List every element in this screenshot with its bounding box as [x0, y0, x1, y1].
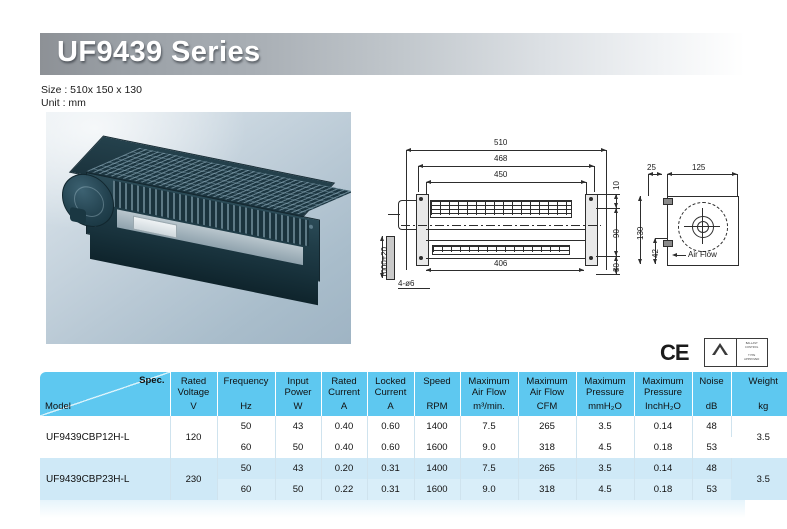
datasheet-page: UF9439 Series Size : 510x 150 x 130 Unit… — [0, 0, 787, 529]
spec-table: Spec. Model Rated Voltage V Frequency Hz… — [40, 372, 787, 500]
ext-line — [737, 174, 738, 196]
header-line-1: Maximum — [526, 376, 567, 387]
cell-rated-current: 0.40 — [321, 416, 367, 437]
cell-noise: 48 — [692, 416, 731, 437]
header-line-1: Weight — [749, 376, 778, 387]
header-line-1: Speed — [423, 376, 450, 387]
ext-line — [596, 194, 620, 195]
cell-power: 43 — [275, 458, 321, 479]
header-unit: A — [322, 401, 367, 413]
header-line-1: Locked — [375, 376, 406, 387]
cell-inchh2o: 0.18 — [634, 479, 692, 500]
airflow-label: Air Flow — [688, 250, 717, 259]
triangle-icon — [712, 343, 728, 355]
cell-frequency: 50 — [217, 458, 275, 479]
dim-arrow — [638, 196, 642, 201]
header-line-1: Frequency — [224, 376, 269, 387]
header-unit: dB — [693, 401, 731, 413]
header-input-power: Input Power W — [275, 372, 321, 416]
ext-line — [596, 274, 620, 275]
ce-mark-icon: CE — [660, 340, 689, 366]
header-unit: InchH₂O — [635, 401, 692, 413]
cell-power: 50 — [275, 479, 321, 500]
cell-weight: 3.5 — [731, 416, 787, 458]
cell-cfm: 265 — [518, 458, 576, 479]
ext-line — [606, 150, 607, 270]
table-row: UF9439CBP12H-L 120 50 43 0.40 0.60 1400 … — [40, 416, 787, 437]
header-max-pressure-mmh2o: Maximum Pressure mmH₂O — [576, 372, 634, 416]
cell-speed: 1600 — [414, 437, 460, 458]
header-unit: Hz — [218, 401, 275, 413]
header-max-air-flow-cfm: Maximum Air Flow CFM — [518, 372, 576, 416]
header-unit: V — [171, 401, 217, 413]
cell-model: UF9439CBP23H-L — [40, 458, 170, 500]
ext-line — [594, 166, 595, 192]
dim-label-mount-width: 468 — [494, 154, 507, 163]
lower-blade-pitch — [433, 246, 567, 252]
badge-line-4: APPROVED — [737, 358, 768, 361]
header-unit: A — [368, 401, 414, 413]
cell-power: 50 — [275, 437, 321, 458]
dim-line-125 — [667, 174, 737, 175]
cell-rated-current: 0.40 — [321, 437, 367, 458]
header-unit: m³/min. — [461, 401, 518, 413]
header-max-pressure-inchh2o: Maximum Pressure InchH₂O — [634, 372, 692, 416]
dim-label-overall-width: 510 — [494, 138, 507, 147]
cell-noise: 48 — [692, 458, 731, 479]
header-line-2: Current — [328, 387, 360, 398]
cell-speed: 1600 — [414, 479, 460, 500]
dim-label-mid-height: 90 — [612, 229, 621, 238]
dim-arrow — [638, 259, 642, 264]
table-body: UF9439CBP12H-L 120 50 43 0.40 0.60 1400 … — [40, 416, 787, 500]
cell-inchh2o: 0.14 — [634, 416, 692, 437]
header-line-2: Air Flow — [530, 387, 564, 398]
cell-noise: 53 — [692, 479, 731, 500]
table-bottom-fade — [40, 500, 745, 518]
motor-outline — [398, 200, 417, 230]
header-line-1: Input — [287, 376, 308, 387]
header-unit: kg — [732, 401, 787, 413]
cell-locked-current: 0.60 — [367, 437, 414, 458]
dim-label-body-width: 450 — [494, 170, 507, 179]
dim-label-mount-offset: 42 — [651, 249, 660, 258]
ext-line — [667, 174, 668, 196]
dim-line-510 — [406, 150, 606, 151]
cell-cfm: 318 — [518, 479, 576, 500]
cell-mmh2o: 4.5 — [576, 437, 634, 458]
table-row: UF9439CBP23H-L 230 50 43 0.20 0.31 1400 … — [40, 458, 787, 479]
header-unit: mmH₂O — [577, 401, 634, 413]
hub-crosshair-v — [702, 208, 703, 244]
struct-line — [426, 240, 586, 241]
dim-label-side-offset: 25 — [647, 163, 656, 172]
header-line-1: Maximum — [642, 376, 683, 387]
header-line-2: Current — [375, 387, 407, 398]
header-corner-cell: Spec. Model — [40, 372, 170, 416]
blower-motor-cap — [70, 207, 86, 224]
note-underline — [398, 288, 430, 289]
header-model-label: Model — [45, 401, 71, 413]
cell-cmm: 9.0 — [460, 437, 518, 458]
header-unit: CFM — [519, 401, 576, 413]
specification-table: Spec. Model Rated Voltage V Frequency Hz… — [40, 372, 745, 518]
cell-locked-current: 0.60 — [367, 416, 414, 437]
cell-cmm: 9.0 — [460, 479, 518, 500]
header-line-2: Voltage — [178, 387, 210, 398]
dim-label-inner-width: 406 — [494, 259, 507, 268]
cell-cfm: 265 — [518, 416, 576, 437]
header-line-1: Maximum — [468, 376, 509, 387]
dim-label-top-height: 10 — [612, 181, 621, 190]
left-bracket — [416, 194, 429, 266]
cell-locked-current: 0.31 — [367, 458, 414, 479]
dim-arrow — [653, 259, 657, 264]
header-weight: Weight kg — [731, 372, 787, 416]
header-max-air-flow-cmm: Maximum Air Flow m³/min. — [460, 372, 518, 416]
header-line-2: Power — [285, 387, 312, 398]
dim-label-bottom-height: 30 — [612, 263, 621, 272]
dim-arrow — [426, 268, 431, 272]
dim-arrow — [380, 236, 384, 241]
center-line — [401, 225, 601, 226]
header-line-2: Pressure — [644, 387, 682, 398]
cell-power: 43 — [275, 416, 321, 437]
header-rated-voltage: Rated Voltage V — [170, 372, 217, 416]
dim-label-lead-length: 1000±20 — [380, 247, 389, 278]
dim-label-hole-note: 4-ø6 — [398, 279, 414, 288]
product-photo — [46, 112, 351, 344]
screw-icon — [309, 224, 313, 229]
header-line-2: Pressure — [586, 387, 624, 398]
page-title: UF9439 Series — [57, 36, 261, 69]
cell-model: UF9439CBP12H-L — [40, 416, 170, 458]
cell-mmh2o: 3.5 — [576, 416, 634, 437]
dim-line-406 — [426, 270, 584, 271]
side-mount-tab — [663, 240, 673, 247]
upper-blade-pitch — [431, 201, 569, 215]
technical-drawing: 510 468 450 — [376, 128, 786, 313]
header-line-1: Maximum — [584, 376, 625, 387]
cell-cmm: 7.5 — [460, 416, 518, 437]
mounting-hole-icon — [419, 256, 423, 260]
struct-line — [426, 229, 586, 230]
shaft-line — [388, 214, 400, 215]
title-banner: UF9439 Series — [40, 33, 745, 75]
cell-frequency: 60 — [217, 479, 275, 500]
header-line-1: Noise — [699, 376, 723, 387]
cell-frequency: 50 — [217, 416, 275, 437]
cell-speed: 1400 — [414, 458, 460, 479]
size-line: Size : 510x 150 x 130 — [41, 84, 142, 97]
badge-text-panel: BALLAST CONTROL TYPE APPROVED — [737, 339, 768, 366]
badge-line-3: TYPE — [737, 354, 768, 357]
dim-arrow — [614, 208, 618, 213]
dim-line-450 — [426, 182, 586, 183]
size-info: Size : 510x 150 x 130 Unit : mm — [41, 84, 142, 109]
cell-weight: 3.5 — [731, 458, 787, 500]
table-header: Spec. Model Rated Voltage V Frequency Hz… — [40, 372, 787, 416]
badge-triangle-panel — [705, 339, 737, 366]
header-unit: W — [276, 401, 321, 413]
header-line-2: Air Flow — [472, 387, 506, 398]
approval-badge-icon: BALLAST CONTROL TYPE APPROVED — [704, 338, 768, 367]
ext-line — [655, 238, 667, 239]
mounting-hole-icon — [589, 197, 593, 201]
cell-mmh2o: 4.5 — [576, 479, 634, 500]
mounting-hole-icon — [419, 197, 423, 201]
cell-cmm: 7.5 — [460, 458, 518, 479]
airflow-arrow-shaft — [676, 255, 686, 256]
dim-label-side-depth: 125 — [692, 163, 705, 172]
side-mount-tab — [663, 198, 673, 205]
cell-inchh2o: 0.18 — [634, 437, 692, 458]
cell-noise: 53 — [692, 437, 731, 458]
dim-label-side-height: 130 — [636, 227, 645, 240]
cell-inchh2o: 0.14 — [634, 458, 692, 479]
cell-cfm: 318 — [518, 437, 576, 458]
cell-voltage: 120 — [170, 416, 217, 458]
header-frequency: Frequency Hz — [217, 372, 275, 416]
cell-rated-current: 0.22 — [321, 479, 367, 500]
mounting-hole-icon — [589, 256, 593, 260]
cell-frequency: 60 — [217, 437, 275, 458]
dim-arrow — [579, 268, 584, 272]
header-row: Spec. Model Rated Voltage V Frequency Hz… — [40, 372, 787, 416]
unit-line: Unit : mm — [41, 97, 142, 110]
cell-rated-current: 0.20 — [321, 458, 367, 479]
cell-mmh2o: 3.5 — [576, 458, 634, 479]
dim-arrow — [657, 172, 662, 176]
header-line-1: Rated — [181, 376, 206, 387]
dim-line-468 — [418, 166, 594, 167]
ext-line — [418, 166, 419, 192]
header-noise: Noise dB — [692, 372, 731, 416]
header-unit: RPM — [415, 401, 460, 413]
header-speed: Speed RPM — [414, 372, 460, 416]
header-spec-label: Spec. — [139, 375, 164, 387]
header-locked-current: Locked Current A — [367, 372, 414, 416]
cell-voltage: 230 — [170, 458, 217, 500]
badge-line-1: BALLAST — [737, 342, 768, 345]
header-line-1: Rated — [331, 376, 356, 387]
cell-speed: 1400 — [414, 416, 460, 437]
cell-locked-current: 0.31 — [367, 479, 414, 500]
header-rated-current: Rated Current A — [321, 372, 367, 416]
hub-inner — [697, 221, 709, 233]
ext-line — [648, 174, 649, 196]
badge-line-2: CONTROL — [737, 346, 768, 349]
dim-arrow — [614, 256, 618, 261]
